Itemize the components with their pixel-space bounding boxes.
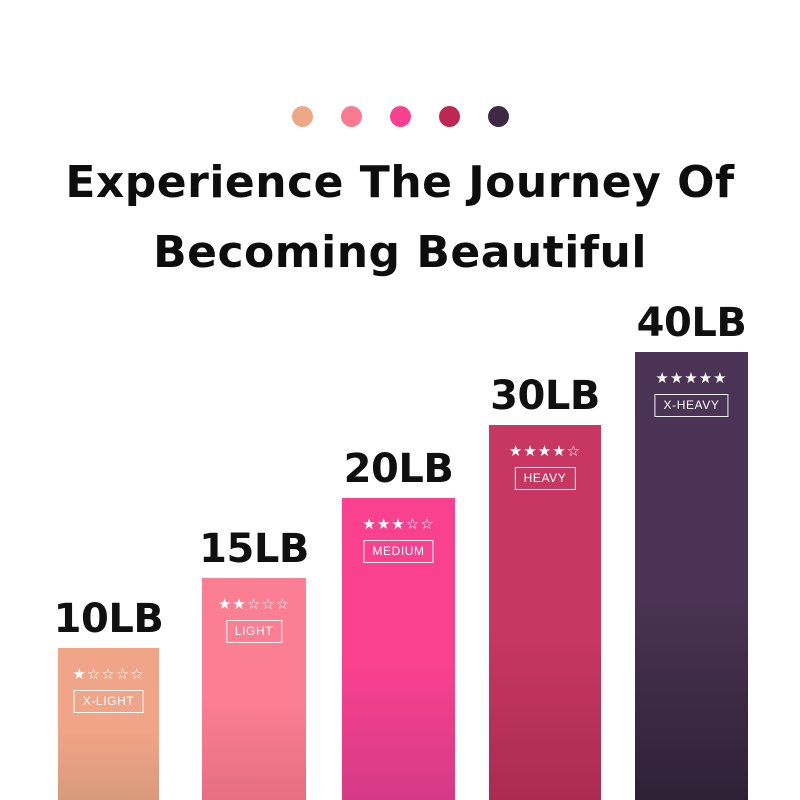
bar-30lb-column[interactable]: ★★★★☆HEAVY xyxy=(489,425,601,800)
bar-15lb[interactable]: 15LB★★☆☆☆LIGHT xyxy=(202,518,306,800)
bar-20lb-badge: ★★★☆☆MEDIUM xyxy=(350,516,447,563)
bar-10lb-badge: ★☆☆☆☆X-LIGHT xyxy=(65,666,152,713)
bar-10lb-star-rating: ★☆☆☆☆ xyxy=(65,666,152,683)
bar-30lb-level-badge: HEAVY xyxy=(515,467,576,490)
bar-15lb-column[interactable]: ★★☆☆☆LIGHT xyxy=(202,578,306,800)
bar-40lb[interactable]: 40LB★★★★★X-HEAVY xyxy=(635,292,748,800)
bar-30lb-star-rating: ★★★★☆ xyxy=(497,443,593,460)
bar-20lb-level-badge: MEDIUM xyxy=(363,540,433,563)
infographic-canvas: Experience The Journey Of Becoming Beaut… xyxy=(0,0,800,800)
bar-15lb-badge: ★★☆☆☆LIGHT xyxy=(209,596,298,643)
bar-40lb-weight-label: 40LB xyxy=(637,302,747,344)
bar-20lb[interactable]: 20LB★★★☆☆MEDIUM xyxy=(342,438,455,800)
bar-10lb-level-badge: X-LIGHT xyxy=(74,690,144,713)
bar-15lb-level-badge: LIGHT xyxy=(226,620,282,643)
bar-10lb[interactable]: 10LB★☆☆☆☆X-LIGHT xyxy=(58,588,159,800)
bar-20lb-star-rating: ★★★☆☆ xyxy=(350,516,447,533)
bar-15lb-weight-label: 15LB xyxy=(199,528,309,570)
resistance-bar-chart: 10LB★☆☆☆☆X-LIGHT15LB★★☆☆☆LIGHT20LB★★★☆☆M… xyxy=(0,0,800,800)
bar-20lb-column[interactable]: ★★★☆☆MEDIUM xyxy=(342,498,455,800)
bar-40lb-column[interactable]: ★★★★★X-HEAVY xyxy=(635,352,748,800)
bar-40lb-level-badge: X-HEAVY xyxy=(654,394,728,417)
bar-40lb-star-rating: ★★★★★ xyxy=(643,370,740,387)
bar-30lb-weight-label: 30LB xyxy=(490,375,600,417)
bar-40lb-badge: ★★★★★X-HEAVY xyxy=(643,370,740,417)
bar-30lb-badge: ★★★★☆HEAVY xyxy=(497,443,593,490)
bar-10lb-weight-label: 10LB xyxy=(54,598,164,640)
bar-30lb[interactable]: 30LB★★★★☆HEAVY xyxy=(489,365,601,800)
bar-10lb-column[interactable]: ★☆☆☆☆X-LIGHT xyxy=(58,648,159,800)
bar-15lb-star-rating: ★★☆☆☆ xyxy=(209,596,298,613)
bar-20lb-weight-label: 20LB xyxy=(344,448,454,490)
